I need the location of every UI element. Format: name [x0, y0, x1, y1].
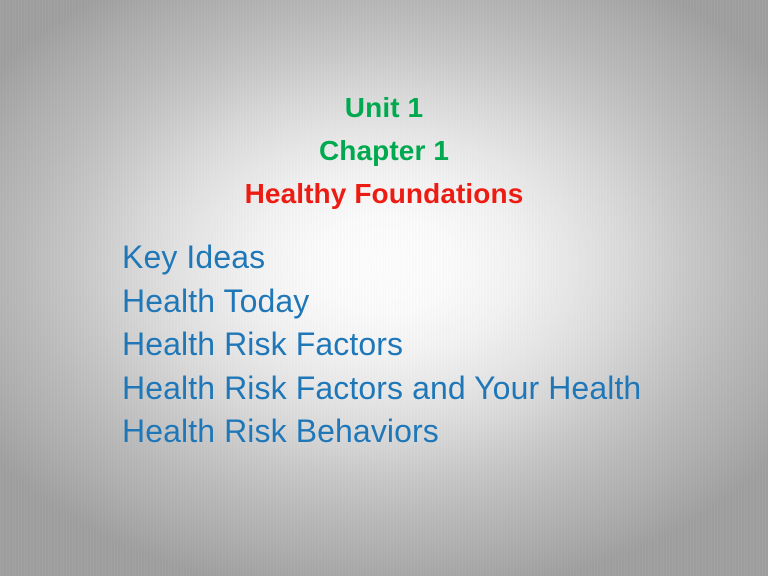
body-line-health-today: Health Today [122, 280, 722, 324]
slide-body-block: Key Ideas Health Today Health Risk Facto… [122, 236, 722, 454]
body-line-key-ideas: Key Ideas [122, 236, 722, 280]
body-line-health-risk-factors: Health Risk Factors [122, 323, 722, 367]
body-line-health-risk-factors-and-your-health: Health Risk Factors and Your Health [122, 367, 722, 411]
title-line-topic: Healthy Foundations [0, 172, 768, 215]
title-line-unit: Unit 1 [0, 86, 768, 129]
body-line-health-risk-behaviors: Health Risk Behaviors [122, 410, 722, 454]
slide-title-block: Unit 1 Chapter 1 Healthy Foundations [0, 86, 768, 215]
title-line-chapter: Chapter 1 [0, 129, 768, 172]
slide-canvas: Unit 1 Chapter 1 Healthy Foundations Key… [0, 0, 768, 576]
